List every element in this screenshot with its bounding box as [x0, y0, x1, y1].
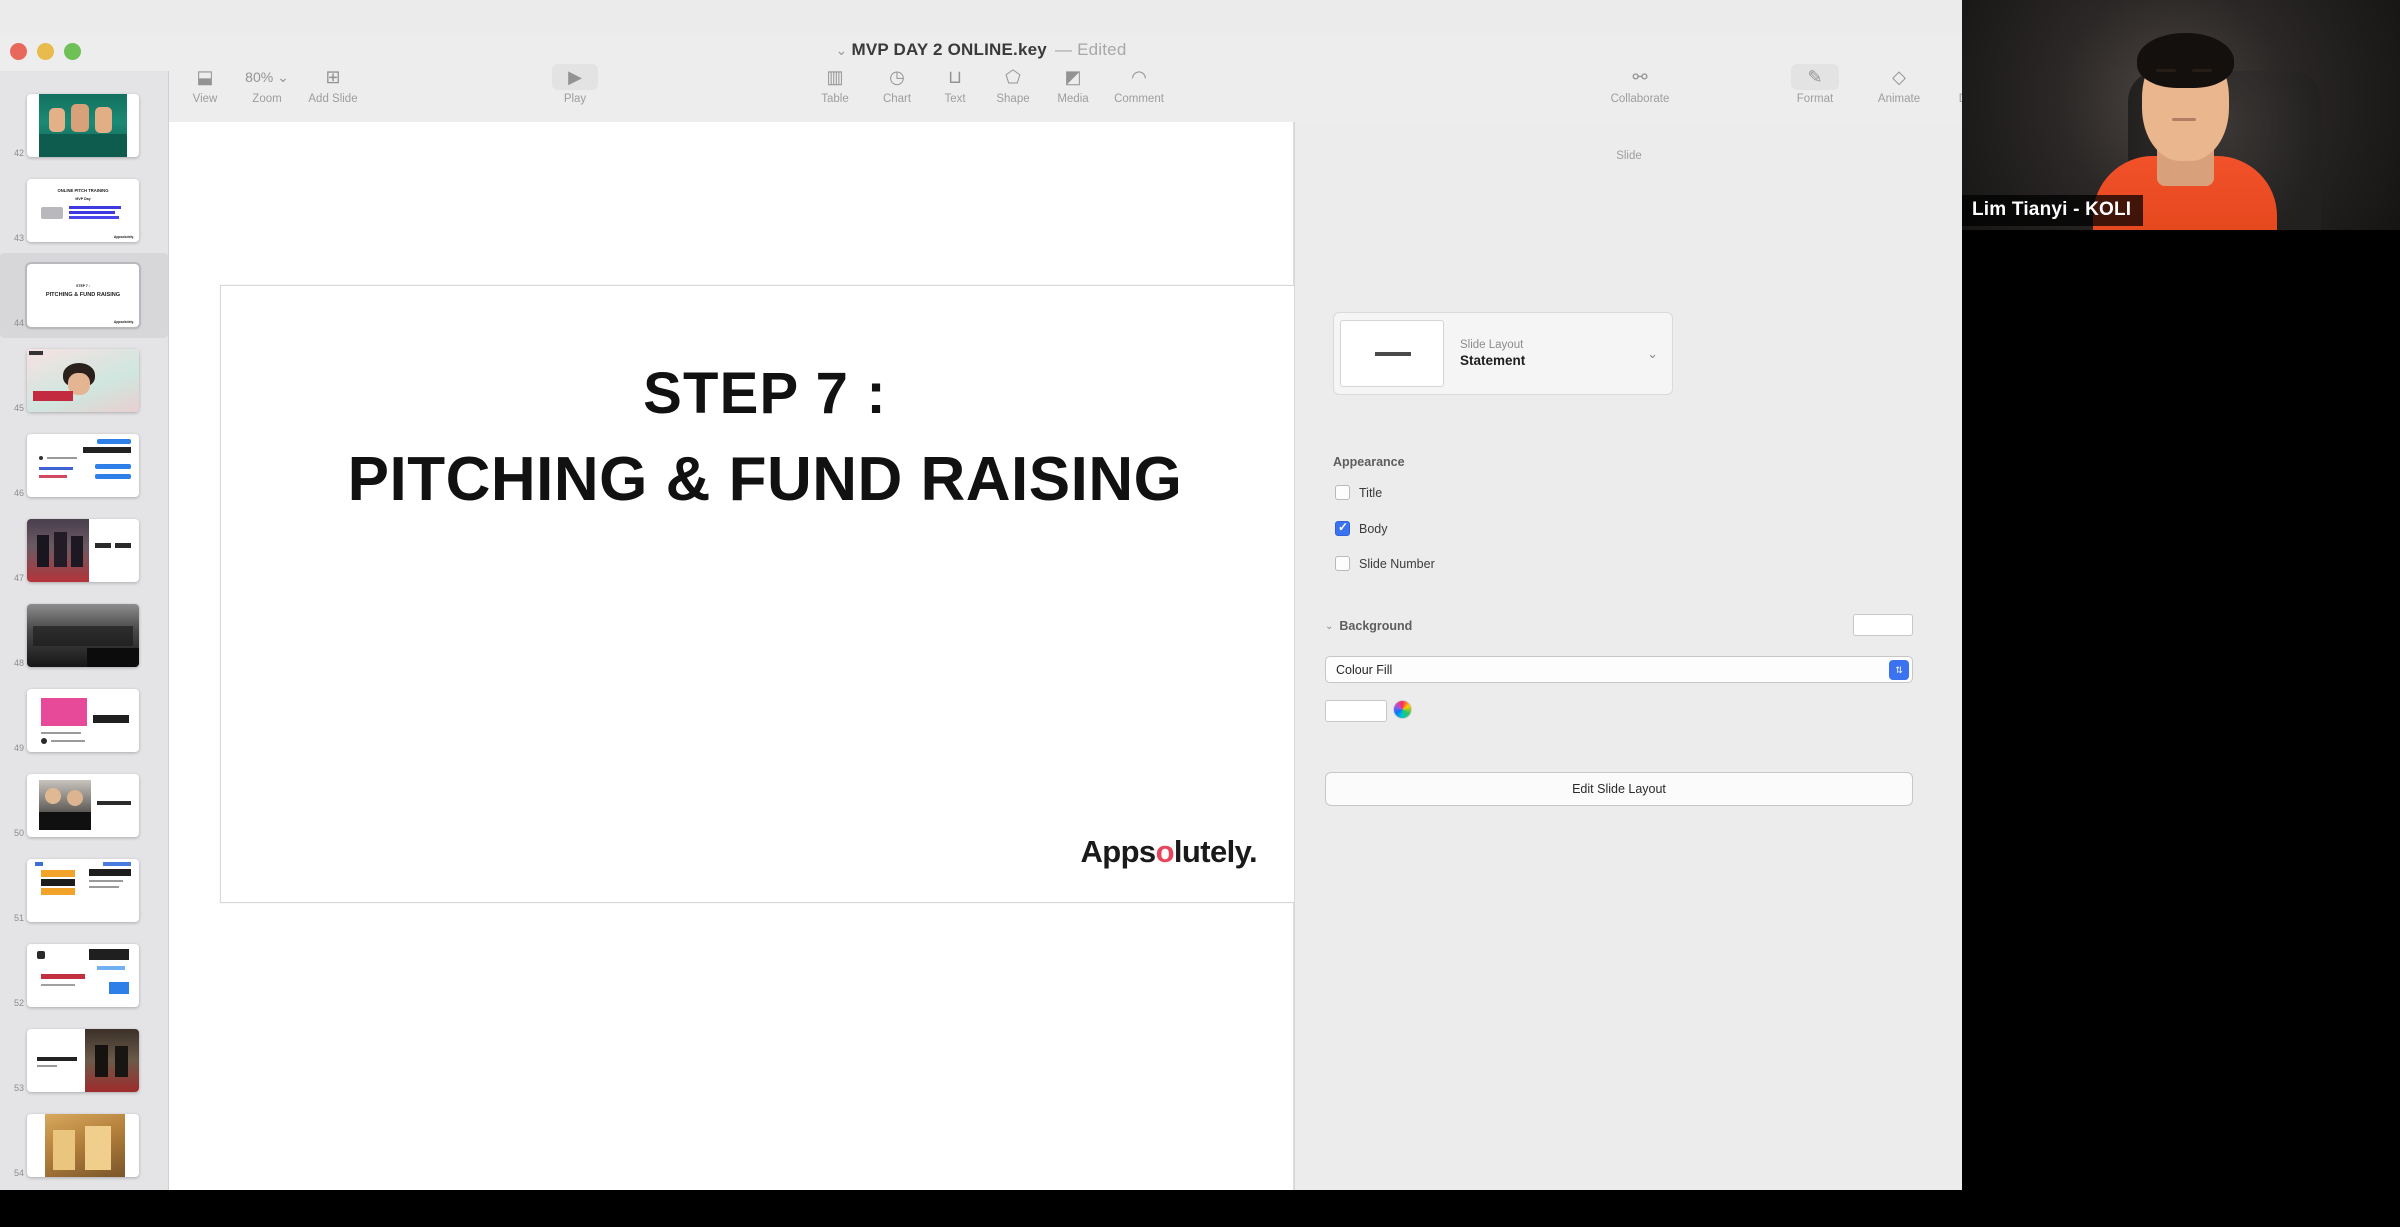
slide-number: 44: [2, 318, 24, 328]
list-item[interactable]: 49: [0, 678, 168, 763]
comment-icon: ◠: [1131, 64, 1147, 90]
list-item[interactable]: 43 ONLINE PITCH TRAINING MVP Day Appsolu…: [0, 168, 168, 253]
checkbox-slide-number-label: Slide Number: [1359, 557, 1435, 571]
slide-thumbnail[interactable]: [27, 1114, 139, 1177]
checkbox-title-label: Title: [1359, 486, 1382, 500]
main-toolbar: ⬓ View 80% ⌄ Zoom ⊞ Add Slide ▶ Play ▥ T…: [169, 64, 1962, 122]
black-bar-right: [1962, 252, 2400, 1227]
checkbox-slide-number[interactable]: [1335, 556, 1350, 571]
slide-thumbnail[interactable]: [27, 434, 139, 497]
slide-layout-kicker: Slide Layout: [1460, 339, 1525, 351]
slide-number: 52: [2, 998, 24, 1008]
list-item[interactable]: 46: [0, 423, 168, 508]
appearance-option-slide-number[interactable]: Slide Number: [1335, 556, 1435, 571]
toolbar-collaborate-label: Collaborate: [1611, 93, 1670, 105]
slide-thumbnail[interactable]: [27, 349, 139, 412]
participant-name-label: Lim Tianyi - KOLI: [1962, 195, 2143, 226]
close-icon[interactable]: [10, 43, 27, 60]
toolbar-play-label: Play: [564, 93, 586, 105]
list-item[interactable]: 48: [0, 593, 168, 678]
appsolutely-logo: Appsolutely.: [1080, 834, 1257, 870]
screen-root: ⌄MVP DAY 2 ONLINE.key— Edited ⬓ View 80%…: [0, 0, 2400, 1227]
slide-body-text[interactable]: STEP 7 : PITCHING & FUND RAISING: [221, 364, 1309, 516]
slide-number: 47: [2, 573, 24, 583]
window-controls[interactable]: [10, 43, 81, 60]
toolbar-animate[interactable]: ◇ Animate: [1863, 64, 1935, 105]
webcam-video-tile[interactable]: Lim Tianyi - KOLI: [1962, 0, 2400, 252]
toolbar-chart-label: Chart: [883, 93, 911, 105]
toolbar-add-slide[interactable]: ⊞ Add Slide: [297, 64, 369, 105]
slide-canvas-area: STEP 7 : PITCHING & FUND RAISING Appsolu…: [169, 122, 1294, 1190]
toolbar-add-slide-label: Add Slide: [308, 93, 357, 105]
toolbar-shape-label: Shape: [996, 93, 1029, 105]
chevron-down-icon[interactable]: ⌄: [1647, 346, 1658, 362]
appearance-option-title[interactable]: Title: [1335, 485, 1382, 500]
slide-number: 48: [2, 658, 24, 668]
toolbar-zoom-label: Zoom: [252, 93, 281, 105]
slide-number: 51: [2, 913, 24, 923]
black-bar-bottom: [0, 1190, 1962, 1227]
slide-thumbnail[interactable]: [27, 859, 139, 922]
list-item[interactable]: 42: [0, 83, 168, 168]
toolbar-format-label: Format: [1797, 93, 1833, 105]
keynote-window: ⌄MVP DAY 2 ONLINE.key— Edited ⬓ View 80%…: [0, 0, 1962, 1190]
slide-line-1: STEP 7 :: [221, 364, 1309, 425]
list-item[interactable]: 51: [0, 848, 168, 933]
slide-thumbnail[interactable]: [27, 94, 139, 157]
slide-number: 54: [2, 1168, 24, 1178]
text-icon: ⊔: [948, 64, 962, 90]
slide-thumbnail[interactable]: ONLINE PITCH TRAINING MVP Day Appsolutel…: [27, 179, 139, 242]
toolbar-animate-label: Animate: [1878, 93, 1920, 105]
table-icon: ▥: [826, 64, 843, 90]
toolbar-text-label: Text: [944, 93, 965, 105]
list-item[interactable]: 47: [0, 508, 168, 593]
slide-thumbnail[interactable]: [27, 774, 139, 837]
document-title[interactable]: ⌄MVP DAY 2 ONLINE.key— Edited: [0, 40, 1962, 60]
collaborate-icon: ⚯: [1632, 64, 1647, 90]
play-icon: ▶: [552, 64, 598, 90]
chart-icon: ◷: [889, 64, 905, 90]
background-color-swatch[interactable]: [1325, 700, 1387, 722]
checkbox-body-label: Body: [1359, 522, 1388, 536]
shape-icon: ⬠: [1005, 64, 1021, 90]
toolbar-table-label: Table: [821, 93, 849, 105]
maximize-icon[interactable]: [64, 43, 81, 60]
inspector-tab-slide[interactable]: Slide: [1295, 150, 1962, 162]
background-preview-swatch[interactable]: [1853, 614, 1913, 636]
slide-number: 53: [2, 1083, 24, 1093]
webcam-bottom-letterbox: [1962, 230, 2400, 252]
slide-number: 42: [2, 148, 24, 158]
view-icon: ⬓: [196, 64, 213, 90]
toolbar-comment[interactable]: ◠ Comment: [1091, 64, 1187, 105]
format-icon: ✎: [1791, 64, 1838, 90]
slide-layout-thumbnail: [1340, 320, 1444, 387]
toolbar-view-label: View: [193, 93, 218, 105]
document-title-text: MVP DAY 2 ONLINE.key: [851, 40, 1047, 59]
slide-thumbnail[interactable]: [27, 519, 139, 582]
document-edited-status: — Edited: [1055, 40, 1127, 59]
toolbar-collaborate[interactable]: ⚯ Collaborate: [1592, 64, 1688, 105]
animate-icon: ◇: [1892, 64, 1906, 90]
slide-number: 43: [2, 233, 24, 243]
webcam-person-hair: [2137, 33, 2233, 88]
slide-number: 46: [2, 488, 24, 498]
logo-part-2: lutely.: [1174, 834, 1257, 869]
webcam-person-brow-right: [2192, 69, 2211, 72]
edit-slide-layout-label: Edit Slide Layout: [1572, 782, 1666, 796]
toolbar-play[interactable]: ▶ Play: [539, 64, 611, 105]
slide-thumbnail[interactable]: [27, 944, 139, 1007]
slide-number: 45: [2, 403, 24, 413]
slide-navigator[interactable]: 42 43 ONLINE PITCH TRAINING MVP Day: [0, 71, 169, 1190]
checkbox-title[interactable]: [1335, 485, 1350, 500]
toolbar-zoom[interactable]: 80% ⌄ Zoom: [231, 64, 303, 105]
slide-thumbnail-selected[interactable]: STEP 7 : PITCHING & FUND RAISING Appsolu…: [27, 264, 139, 327]
background-fill-type-select[interactable]: Colour Fill ⇅: [1325, 656, 1913, 683]
checkbox-body[interactable]: [1335, 521, 1350, 536]
background-section-header[interactable]: ⌄ Background: [1325, 619, 1412, 633]
list-item[interactable]: 44 STEP 7 : PITCHING & FUND RAISING Apps…: [0, 253, 168, 338]
webcam-person-mouth: [2172, 118, 2196, 121]
toolbar-comment-label: Comment: [1114, 93, 1164, 105]
list-item[interactable]: 54: [0, 1103, 168, 1188]
edit-slide-layout-button[interactable]: Edit Slide Layout: [1325, 772, 1913, 806]
slide-editor[interactable]: STEP 7 : PITCHING & FUND RAISING Appsolu…: [220, 285, 1310, 903]
toolbar-document[interactable]: ▤ Document: [1949, 64, 1962, 105]
zoom-icon: 80% ⌄: [245, 64, 289, 90]
color-wheel-button[interactable]: [1393, 700, 1412, 719]
toolbar-format[interactable]: ✎ Format: [1779, 64, 1851, 105]
disclosure-triangle-icon[interactable]: ⌄: [1325, 621, 1333, 632]
list-item[interactable]: 50: [0, 763, 168, 848]
slide-layout-selector[interactable]: Slide Layout Statement ⌄: [1333, 312, 1673, 395]
logo-part-1: Apps: [1080, 834, 1155, 869]
slide-layout-text: Slide Layout Statement: [1460, 339, 1525, 368]
media-icon: ◩: [1064, 64, 1081, 90]
appearance-option-body[interactable]: Body: [1335, 521, 1388, 536]
add-slide-icon: ⊞: [325, 64, 340, 90]
appearance-section-title: Appearance: [1333, 455, 1405, 469]
slide-layout-name: Statement: [1460, 353, 1525, 368]
slide-thumbnail[interactable]: [27, 1029, 139, 1092]
format-inspector-panel: Slide Slide Layout Statement ⌄ Appearanc…: [1294, 122, 1962, 1190]
slide-line-2: PITCHING & FUND RAISING: [221, 443, 1309, 516]
webcam-person-brow-left: [2156, 69, 2175, 72]
background-fill-type-label: Colour Fill: [1336, 663, 1392, 677]
background-section-title: Background: [1339, 619, 1412, 633]
title-chevron-icon: ⌄: [836, 42, 848, 58]
logo-accent-o: o: [1156, 834, 1174, 869]
slide-number: 49: [2, 743, 24, 753]
slide-number: 50: [2, 828, 24, 838]
list-item[interactable]: 45: [0, 338, 168, 423]
list-item[interactable]: 52: [0, 933, 168, 1018]
slide-thumbnail[interactable]: [27, 604, 139, 667]
minimize-icon[interactable]: [37, 43, 54, 60]
slide-thumbnail[interactable]: [27, 689, 139, 752]
toolbar-media-label: Media: [1057, 93, 1088, 105]
list-item[interactable]: 53: [0, 1018, 168, 1103]
chevron-updown-icon[interactable]: ⇅: [1889, 660, 1909, 680]
